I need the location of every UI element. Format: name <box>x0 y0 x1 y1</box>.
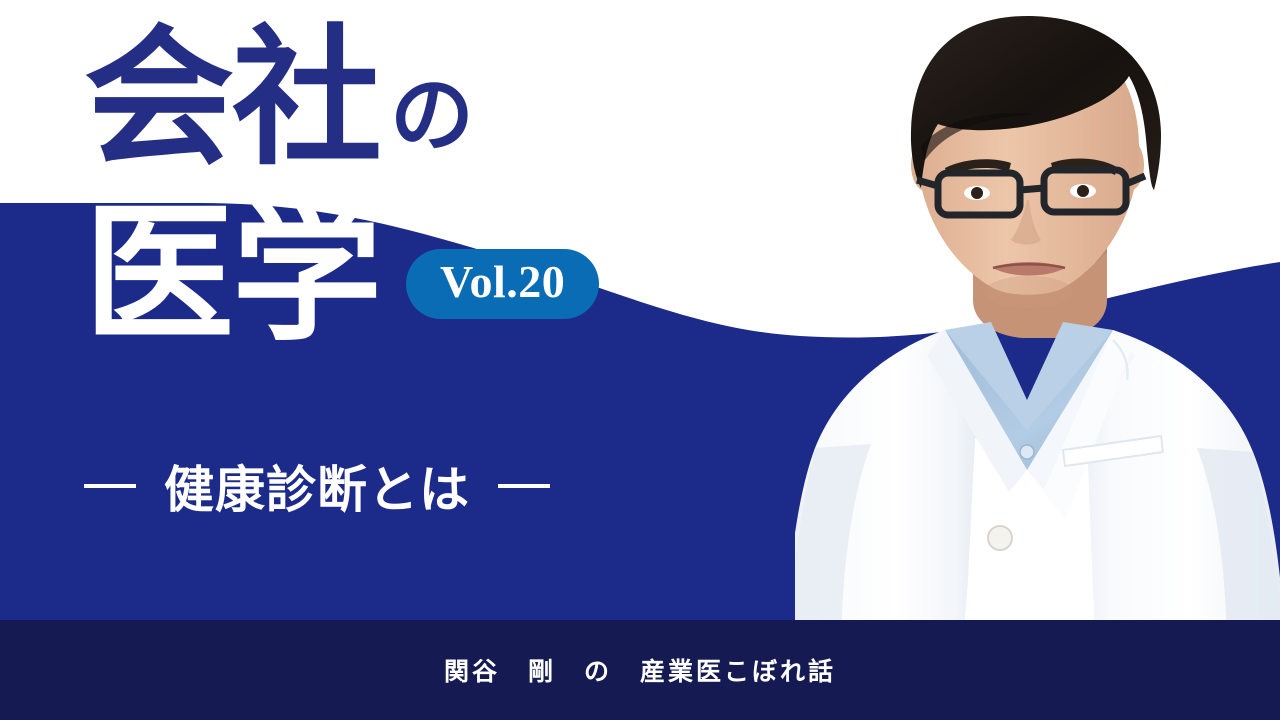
subtitle-row: 健康診断とは <box>84 450 550 522</box>
title-kanji-igaku: 医学 <box>84 204 380 347</box>
footer-text: 関谷 剛 の 産業医こぼれ話 <box>444 652 836 688</box>
footer-bar: 関谷 剛 の 産業医こぼれ話 <box>0 620 1280 720</box>
subtitle-text: 健康診断とは <box>164 450 470 522</box>
dash-right-icon <box>498 484 550 488</box>
dash-left-icon <box>84 484 136 488</box>
title-line-2: 医学 Vol.20 <box>84 204 599 347</box>
title-kanji-kaisha: 会社 <box>84 28 380 171</box>
title-card: 会社 の 医学 Vol.20 健康診断とは 関谷 剛 の 産業医こぼれ話 <box>0 0 1280 720</box>
title-line-1: 会社 の <box>84 28 474 171</box>
title-kana-no: の <box>390 73 474 157</box>
doctor-photo <box>795 0 1280 640</box>
volume-badge[interactable]: Vol.20 <box>406 249 599 319</box>
